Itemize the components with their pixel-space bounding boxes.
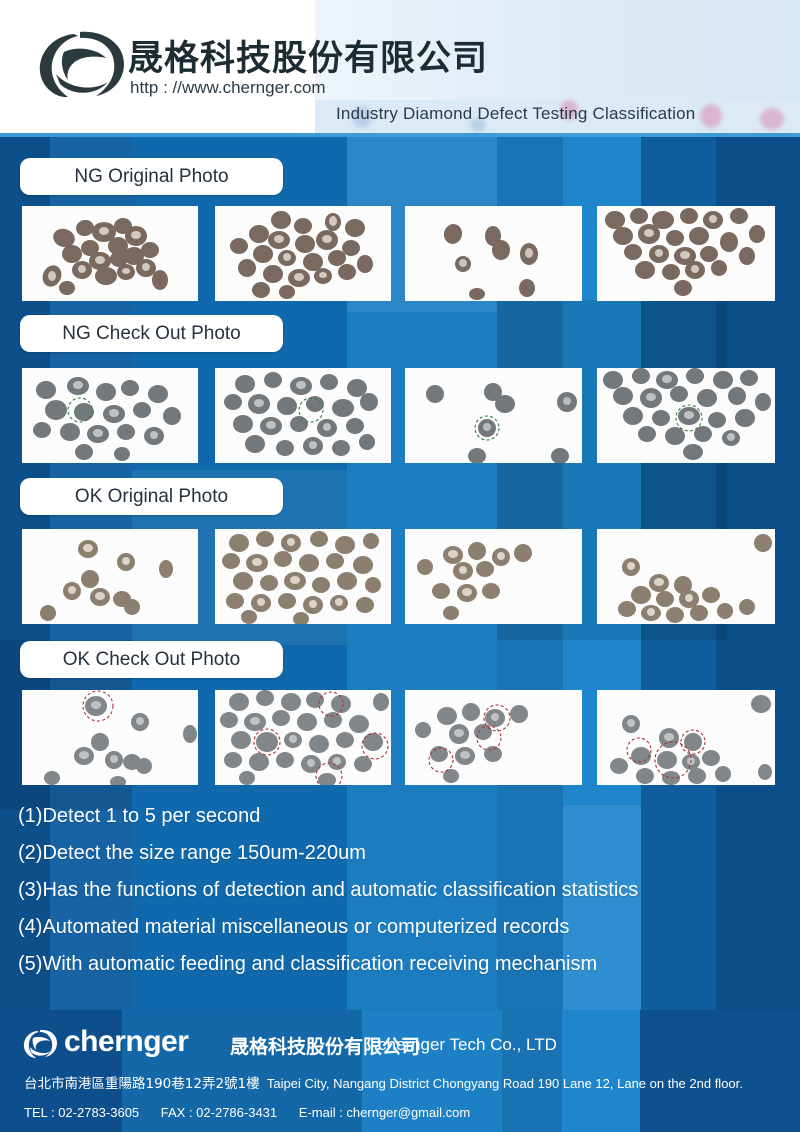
feature-item-3: (3)Has the functions of detection and au… (18, 879, 788, 902)
footer-fax: FAX : 02-2786-3431 (161, 1105, 277, 1120)
photo-panel-ok-original-2[interactable] (215, 529, 391, 624)
photo-panel-ng-original-2[interactable] (215, 206, 391, 301)
footer-address: 台北市南港區重陽路190巷12弄2號1樓 Taipei City, Nangan… (24, 1072, 743, 1092)
footer-email[interactable]: E-mail : chernger@gmail.com (299, 1105, 470, 1120)
photo-panel-ng-original-4[interactable] (597, 206, 775, 301)
footer-band-6 (640, 1010, 800, 1132)
header-tagline: Industry Diamond Defect Testing Classifi… (336, 104, 695, 124)
photo-panel-ok-checkout-4[interactable] (597, 690, 775, 785)
photo-panel-ok-checkout-3[interactable] (405, 690, 582, 785)
photo-panel-ok-original-1[interactable] (22, 529, 198, 624)
photo-panel-ng-checkout-1[interactable] (22, 368, 198, 463)
poster-page: 晟格科技股份有限公司 http : //www.chernger.com Ind… (0, 0, 800, 1132)
photo-panel-ng-original-3[interactable] (405, 206, 582, 301)
chernger-swoosh-logo-icon (34, 26, 130, 104)
footer-tel: TEL : 02-2783-3605 (24, 1105, 139, 1120)
feature-item-5: (5)With automatic feeding and classifica… (18, 953, 788, 976)
photo-panel-ng-original-1[interactable] (22, 206, 198, 301)
footer-chernger-swoosh-logo-icon (22, 1028, 58, 1060)
photo-panel-ok-original-4[interactable] (597, 529, 775, 624)
page-header: 晟格科技股份有限公司 http : //www.chernger.com Ind… (0, 0, 800, 137)
section-label-ng-checkout: NG Check Out Photo (20, 315, 283, 352)
section-label-ok-checkout: OK Check Out Photo (20, 641, 283, 678)
footer-contact: TEL : 02-2783-3605 FAX : 02-2786-3431 E-… (24, 1105, 488, 1120)
feature-item-4: (4)Automated material miscellaneous or c… (18, 916, 788, 939)
sparkle-decor-4 (760, 108, 784, 130)
footer-address-en: Taipei City, Nangang District Chongyang … (267, 1076, 743, 1091)
footer-address-cn: 台北市南港區重陽路190巷12弄2號1樓 (24, 1076, 260, 1092)
page-title: 晟格科技股份有限公司 (128, 30, 488, 81)
photo-panel-ng-checkout-3[interactable] (405, 368, 582, 463)
footer-company-en: chernger Tech Co., LTD (378, 1035, 557, 1055)
photo-panel-ng-checkout-4[interactable] (597, 368, 775, 463)
feature-item-1: (1)Detect 1 to 5 per second (18, 805, 788, 828)
photo-panel-ok-checkout-2[interactable] (215, 690, 391, 785)
feature-list: (1)Detect 1 to 5 per second (2)Detect th… (18, 805, 788, 990)
section-label-ok-original: OK Original Photo (20, 478, 283, 515)
photo-panel-ok-original-3[interactable] (405, 529, 582, 624)
header-divider (0, 133, 800, 137)
feature-item-2: (2)Detect the size range 150um-220um (18, 842, 788, 865)
photo-panel-ok-checkout-1[interactable] (22, 690, 198, 785)
photo-panel-ng-checkout-2[interactable] (215, 368, 391, 463)
footer-band-4 (502, 1010, 562, 1132)
company-website-link[interactable]: http : //www.chernger.com (130, 78, 326, 98)
sparkle-decor-3 (700, 104, 722, 128)
page-footer: chernger 晟格科技股份有限公司 chernger Tech Co., L… (0, 1010, 800, 1132)
section-label-ng-original: NG Original Photo (20, 158, 283, 195)
footer-brand-name: chernger (64, 1025, 188, 1059)
footer-band-5 (562, 1010, 640, 1132)
